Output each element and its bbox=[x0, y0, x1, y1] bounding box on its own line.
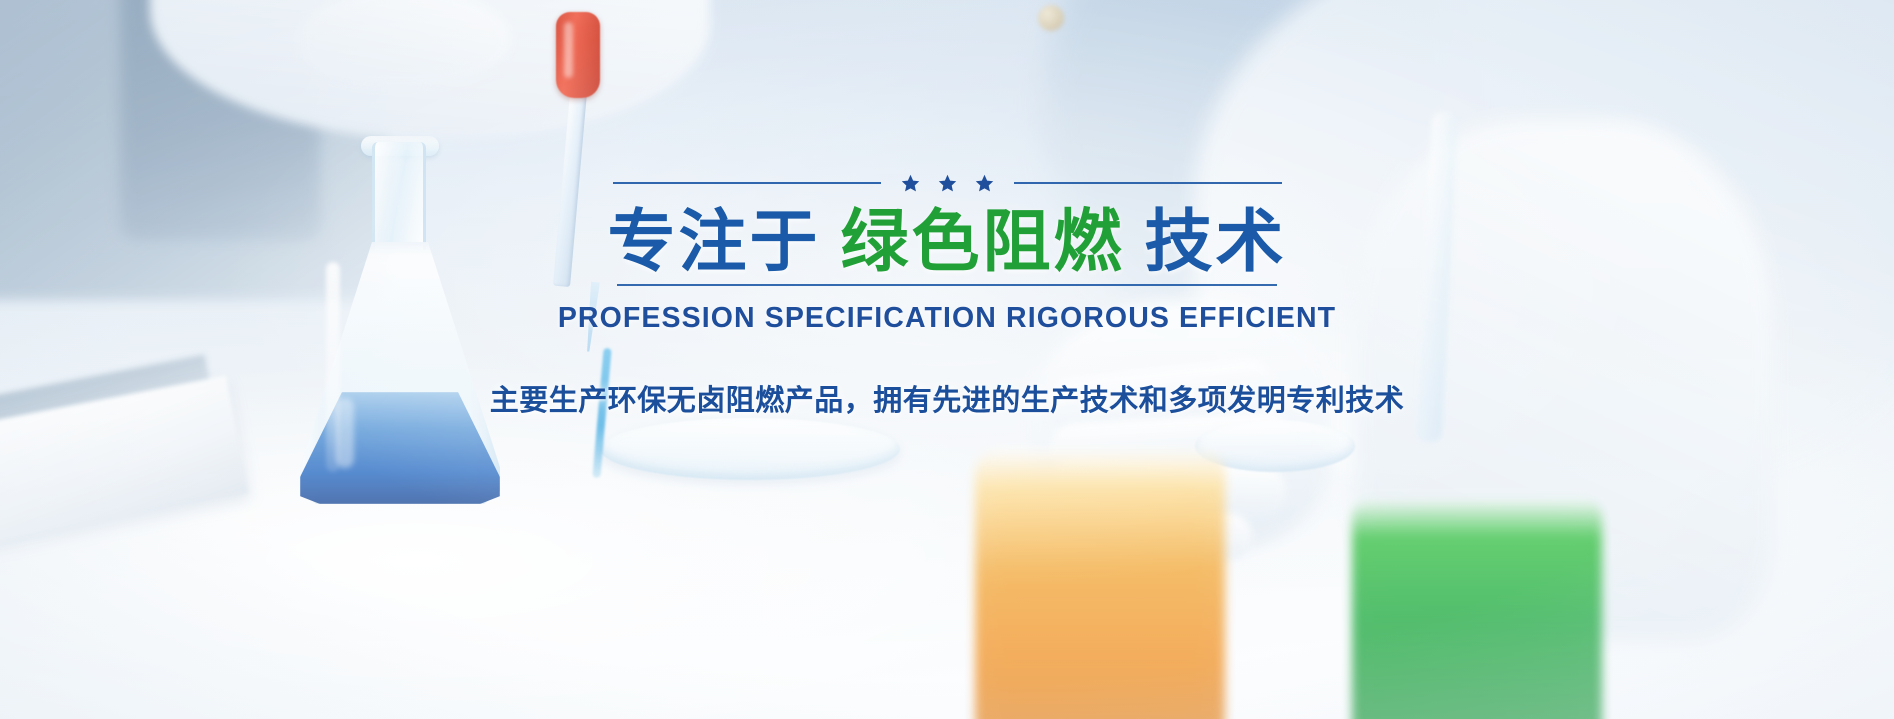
divider-rule-right bbox=[1014, 182, 1282, 184]
star-icon bbox=[901, 174, 920, 193]
banner-subtitle-english: PROFESSION SPECIFICATION RIGOROUS EFFICI… bbox=[558, 302, 1336, 335]
headline-part-3: 技术 bbox=[1145, 204, 1287, 280]
divider-rule-left bbox=[613, 182, 881, 184]
star-group bbox=[895, 174, 1000, 193]
headline-underline-rule bbox=[617, 284, 1277, 286]
decorative-divider bbox=[613, 172, 1282, 194]
headline-part-2: 绿色阻燃 bbox=[840, 204, 1124, 280]
banner-copy: 专注于绿色阻燃技术 PROFESSION SPECIFICATION RIGOR… bbox=[0, 0, 1894, 719]
star-icon bbox=[975, 174, 994, 193]
hero-banner: 专注于绿色阻燃技术 PROFESSION SPECIFICATION RIGOR… bbox=[0, 0, 1894, 719]
banner-description: 主要生产环保无卤阻燃产品，拥有先进的生产技术和多项发明专利技术 bbox=[490, 377, 1405, 419]
headline-part-1: 专注于 bbox=[607, 204, 820, 280]
banner-headline: 专注于绿色阻燃技术 bbox=[607, 206, 1286, 278]
star-icon bbox=[938, 174, 957, 193]
